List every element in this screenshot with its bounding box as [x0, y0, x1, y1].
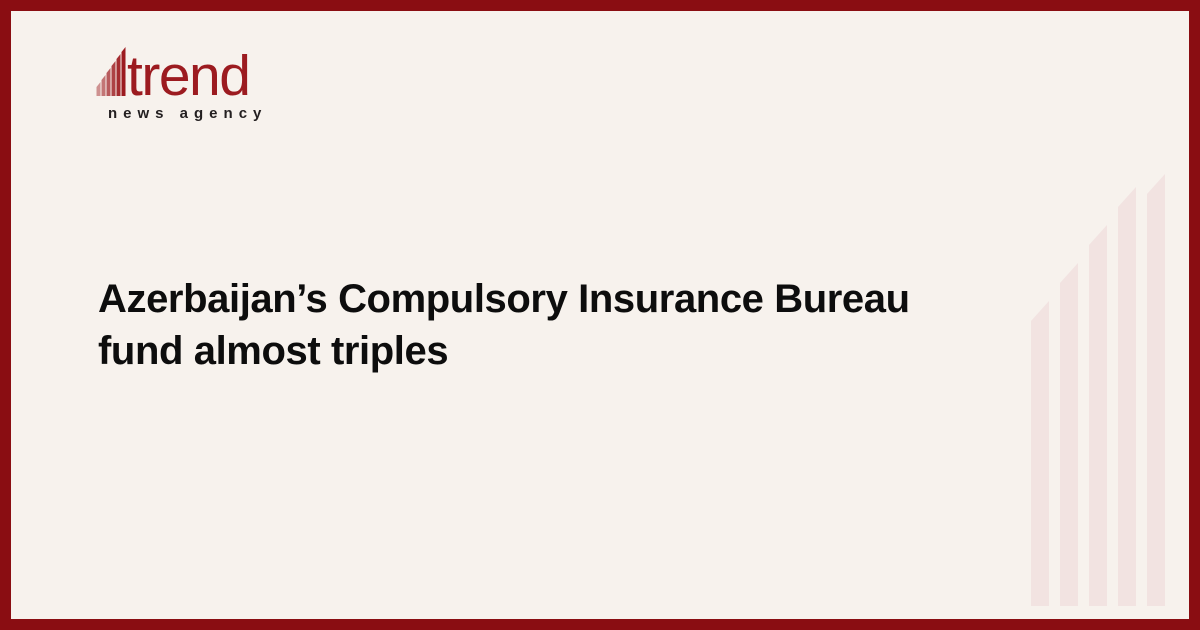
article-headline: Azerbaijan’s Compulsory Insurance Bureau…: [98, 273, 998, 377]
trend-logo[interactable]: trend news agency: [96, 40, 296, 140]
ascending-bars-watermark: [1027, 173, 1179, 606]
logo-wordmark-row: trend: [96, 40, 296, 102]
logo-wordmark-text: trend: [127, 48, 249, 105]
article-share-card: trend news agency Azerbaijan’s Compulsor…: [0, 0, 1200, 630]
ascending-bars-icon: [96, 43, 126, 101]
card-inner-surface: trend news agency Azerbaijan’s Compulsor…: [11, 11, 1189, 619]
